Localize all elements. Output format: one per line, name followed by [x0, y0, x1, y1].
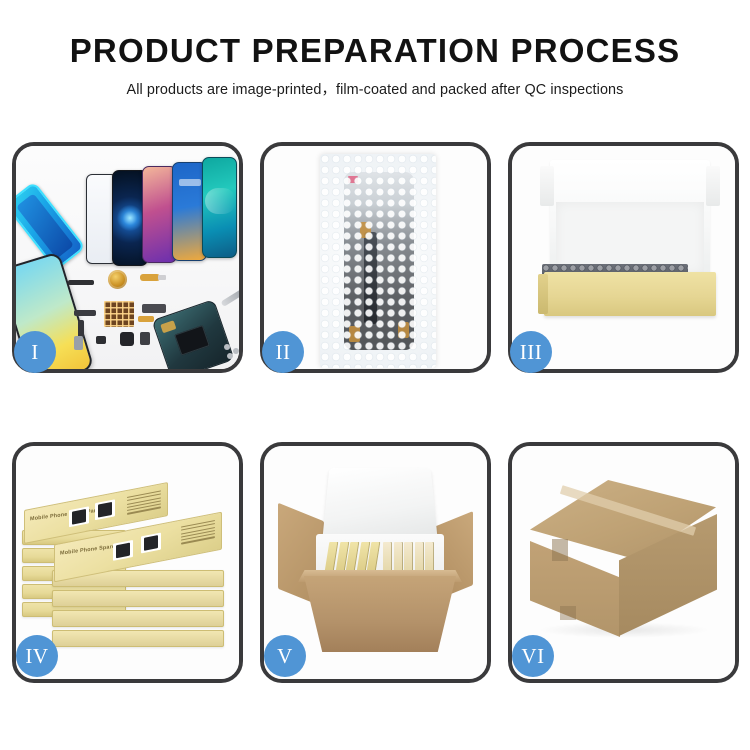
bubble-texture [320, 154, 436, 368]
step-badge: V [264, 635, 306, 677]
page-title: PRODUCT PREPARATION PROCESS [0, 34, 750, 69]
box-window-1 [113, 540, 133, 561]
wireless-coil-part [108, 270, 127, 289]
product-preparation-infographic: PRODUCT PREPARATION PROCESS All products… [0, 0, 750, 750]
foam-lid-open [322, 468, 438, 541]
speaker-part [96, 336, 106, 344]
box-label-text: Mobile Phone Spare Parts [30, 507, 101, 522]
panel-3-image [512, 146, 735, 369]
panel-box-stack: Mobile Phone Spare Parts Mobile Phone Sp… [12, 442, 243, 683]
phone-screen-teal [202, 157, 237, 258]
stacked-box [52, 630, 224, 647]
panel-2-image [264, 146, 487, 369]
panel-carton-packing: V [260, 442, 491, 683]
yellow-box-tray [544, 272, 716, 316]
header: PRODUCT PREPARATION PROCESS All products… [0, 0, 750, 99]
step-badge: I [14, 331, 56, 373]
retail-box-stack: Mobile Phone Spare Parts Mobile Phone Sp… [20, 470, 239, 666]
tweezers-tool-icon [221, 287, 239, 307]
sim-tray-part [74, 336, 83, 350]
carton-seam-upper [552, 539, 568, 561]
flex-cable-part [74, 310, 96, 316]
spare-parts-group [68, 266, 239, 369]
bubble-wrap-bag [320, 154, 436, 368]
screws-group [224, 344, 239, 358]
carton-seam-lower [560, 606, 576, 620]
panel-parts-overview: I [12, 142, 243, 373]
stacked-box [52, 610, 224, 627]
connector-part [142, 304, 166, 313]
page-subtitle: All products are image-printed，film-coat… [0, 78, 750, 99]
box-window-1 [69, 506, 89, 527]
process-grid: I II [12, 142, 739, 683]
box-spec-lines [181, 520, 215, 547]
earpiece-mesh-part [68, 280, 94, 285]
chip-grid-part [104, 301, 134, 327]
panel-inner-box: III [508, 142, 739, 373]
flex-cable-gold-part [140, 274, 160, 281]
box-window-2 [141, 533, 161, 554]
box-window-2 [95, 499, 115, 520]
camera-module-part [120, 332, 134, 346]
panel-sealed-carton: VI [508, 442, 739, 683]
box-spec-lines [127, 490, 161, 517]
step-badge: VI [512, 635, 554, 677]
step-badge: III [510, 331, 552, 373]
vibrator-part [140, 332, 150, 345]
charging-port-part [138, 316, 154, 322]
stacked-box [52, 590, 224, 607]
panel-bubble-wrap: II [260, 142, 491, 373]
step-badge: IV [16, 635, 58, 677]
step-badge: II [262, 331, 304, 373]
panel-1-image [16, 146, 239, 369]
carton-body [304, 576, 456, 652]
